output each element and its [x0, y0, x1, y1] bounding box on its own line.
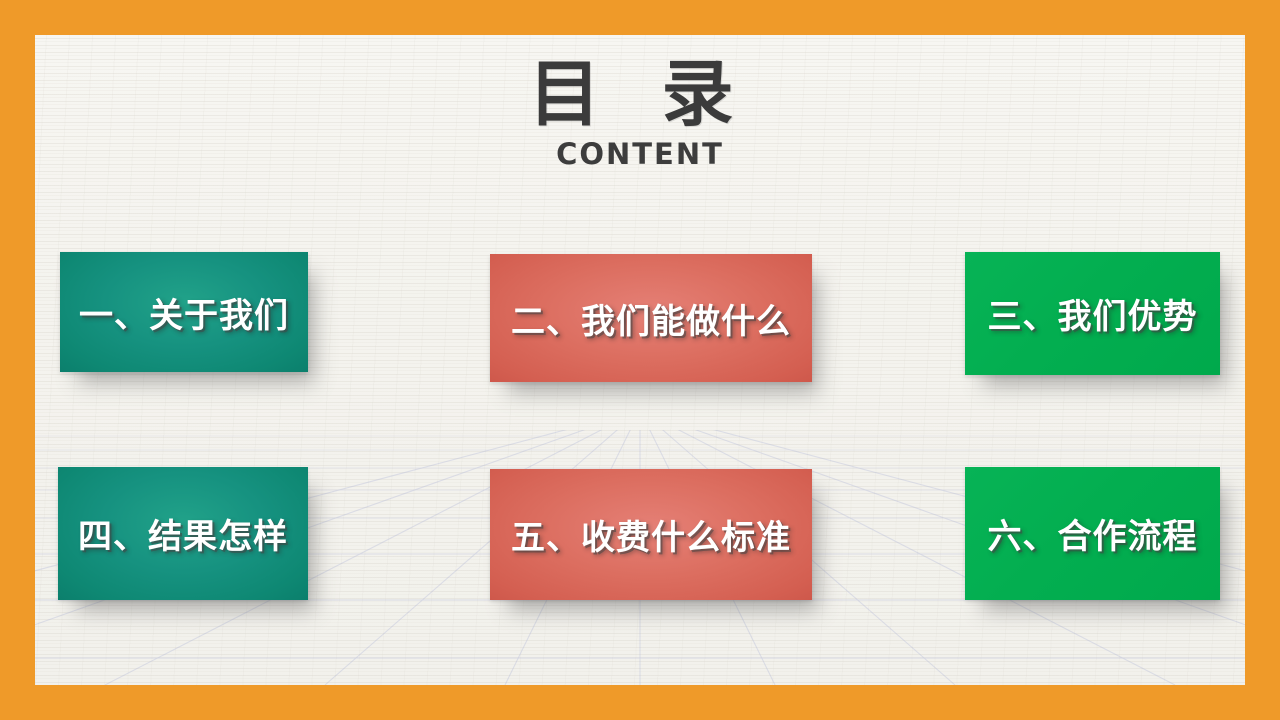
toc-item-4[interactable]: 四、结果怎样 — [58, 467, 308, 600]
toc-item-3-label: 三、我们优势 — [988, 289, 1198, 338]
toc-item-1[interactable]: 一、关于我们 — [60, 252, 308, 372]
toc-item-5-label: 五、收费什么标准 — [511, 510, 791, 559]
presentation-slide: 目 录 CONTENT 一、关于我们 二、我们能做什么 三、我们优势 四、结果怎… — [0, 0, 1280, 720]
toc-item-2[interactable]: 二、我们能做什么 — [490, 254, 812, 382]
toc-item-5[interactable]: 五、收费什么标准 — [490, 469, 812, 600]
slide-header: 目 录 CONTENT — [35, 57, 1245, 171]
slide-canvas: 目 录 CONTENT 一、关于我们 二、我们能做什么 三、我们优势 四、结果怎… — [35, 35, 1245, 685]
toc-item-2-label: 二、我们能做什么 — [511, 294, 791, 343]
toc-item-6-label: 六、合作流程 — [988, 509, 1198, 558]
toc-item-1-label: 一、关于我们 — [79, 288, 289, 337]
toc-item-4-label: 四、结果怎样 — [78, 509, 288, 558]
toc-item-3[interactable]: 三、我们优势 — [965, 252, 1220, 375]
page-title: 目 录 — [35, 57, 1245, 133]
page-subtitle: CONTENT — [35, 137, 1245, 171]
toc-item-6[interactable]: 六、合作流程 — [965, 467, 1220, 600]
